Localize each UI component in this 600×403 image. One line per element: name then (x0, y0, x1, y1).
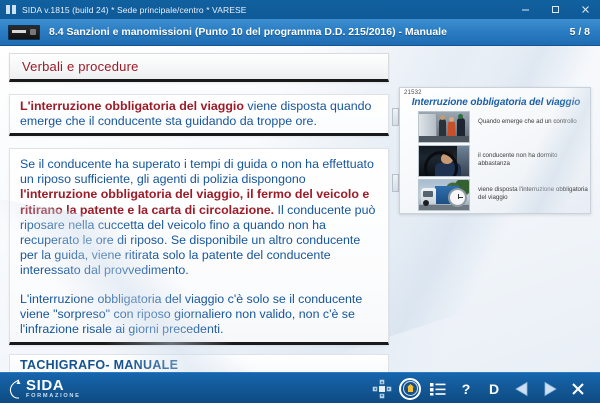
intro-paragraph: L'interruzione obbligatoria del viaggio … (20, 99, 380, 129)
media-row-list: Quando emerge che ad un controllo il con… (418, 111, 588, 213)
sida-logo-icon (8, 378, 23, 400)
index-list-icon[interactable] (424, 373, 452, 403)
cassette-icon (6, 4, 17, 15)
main-paragraph-box: Se il conducente ha superato i tempi di … (9, 148, 389, 345)
slide-heading-box: Verbali e procedure (9, 53, 389, 82)
media-code: 21532 (404, 90, 422, 96)
home-icon[interactable] (396, 373, 424, 403)
logo-sub-text: FORMAZIONE (26, 394, 81, 400)
tired-driver-thumbnail (418, 145, 470, 177)
main-paragraph: Se il conducente ha superato i tempi di … (20, 157, 380, 279)
media-row: Quando emerge che ad un controllo (418, 111, 588, 143)
roadside-check-thumbnail (418, 111, 470, 143)
help-icon[interactable]: ? (452, 373, 480, 403)
media-title: Interruzione obbligatoria del viaggio (400, 97, 591, 108)
exit-icon[interactable] (564, 373, 592, 403)
toolbar-button-group: ? D (368, 373, 600, 403)
tachograph-icon (8, 25, 40, 40)
help-label: ? (462, 382, 471, 396)
media-caption: il conducente non ha dormito abbastanza (470, 145, 588, 168)
media-row: viene disposta l'interruzione obbligator… (418, 179, 588, 211)
truck-clock-thumbnail (418, 179, 470, 211)
main-part1: Se il conducente ha superato i tempi di … (20, 157, 374, 186)
chapter-title: 8.4 Sanzioni e manomissioni (Punto 10 de… (49, 26, 570, 38)
media-scroll-down-button[interactable] (392, 174, 399, 192)
media-panel[interactable]: 21532 Interruzione obbligatoria del viag… (399, 87, 591, 214)
dictionary-label: D (489, 382, 499, 396)
sida-logo: SIDA FORMAZIONE (0, 378, 81, 400)
intro-emphasis: L'interruzione obbligatoria del viaggio (20, 99, 244, 113)
media-row: il conducente non ha dormito abbastanza (418, 145, 588, 177)
sida-logo-text: SIDA FORMAZIONE (26, 378, 81, 400)
next-page-icon[interactable] (536, 373, 564, 403)
page-counter: 5 / 8 (570, 26, 590, 38)
slide-footer-box: TACHIGRAFO- MANUALE (9, 354, 389, 372)
minimize-icon[interactable] (510, 0, 540, 19)
window-controls (510, 0, 600, 19)
intro-paragraph-box: L'interruzione obbligatoria del viaggio … (9, 94, 389, 136)
pan-navigation-icon[interactable] (368, 373, 396, 403)
main-paragraphs: Se il conducente ha superato i tempi di … (20, 157, 380, 337)
slide-heading: Verbali e procedure (22, 59, 139, 74)
dictionary-icon[interactable]: D (480, 373, 508, 403)
media-caption: viene disposta l'interruzione obbligator… (470, 179, 588, 202)
window-title: SIDA v.1815 (build 24) * Sede principale… (22, 5, 247, 15)
chapter-header: 8.4 Sanzioni e manomissioni (Punto 10 de… (0, 19, 600, 46)
maximize-icon[interactable] (540, 0, 570, 19)
slide-content: Verbali e procedure L'interruzione obbli… (0, 46, 600, 372)
bottom-toolbar: SIDA FORMAZIONE (0, 372, 600, 403)
media-caption: Quando emerge che ad un controllo (470, 111, 577, 126)
application-window: SIDA v.1815 (build 24) * Sede principale… (0, 0, 600, 403)
media-scroll-up-button[interactable] (392, 108, 399, 126)
logo-main-text: SIDA (26, 378, 81, 393)
slide-footer-label: TACHIGRAFO- MANUALE (20, 358, 178, 372)
previous-page-icon[interactable] (508, 373, 536, 403)
window-titlebar: SIDA v.1815 (build 24) * Sede principale… (0, 0, 600, 19)
close-icon[interactable] (570, 0, 600, 19)
closing-paragraph: L'interruzione obbligatoria del viaggio … (20, 292, 380, 338)
